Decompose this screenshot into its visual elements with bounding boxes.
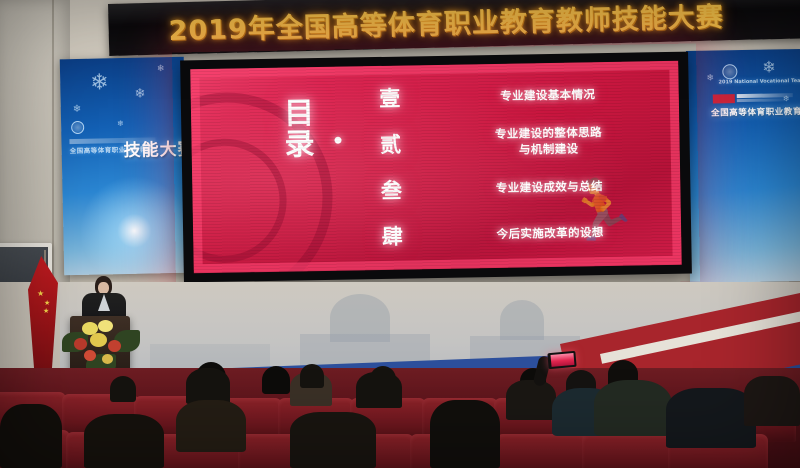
audience-person <box>430 400 500 468</box>
led-scanlines <box>190 61 681 273</box>
audience-person <box>262 366 290 394</box>
audience-person <box>356 372 402 408</box>
poster-logo-icon <box>71 121 84 134</box>
screenshot-root: 2019年全国高等体育职业教育教师技能大赛 ❄ ❄ ❄ ❄ ❄ 全国高等体育职业… <box>0 0 800 468</box>
right-poster-title: 全国高等体育职业教育教师技能大赛 <box>711 104 800 119</box>
wall-seam <box>52 0 54 300</box>
audience-person <box>0 404 62 468</box>
snowflake-icon: ❄ <box>134 88 145 101</box>
snowflake-icon: ❄ <box>73 105 82 115</box>
audience-person <box>110 376 136 402</box>
right-poster: ❄ ❄ ❄ 2019 National Vocational Teaching … <box>686 49 800 283</box>
smartphone-screen <box>550 353 574 367</box>
bouquet-flower <box>90 333 107 347</box>
audience-person <box>594 380 672 436</box>
bouquet-flower <box>84 350 96 361</box>
mural-dome <box>500 300 544 340</box>
audience-person <box>666 388 756 448</box>
bouquet-flower <box>98 320 113 332</box>
audience-person <box>176 400 246 452</box>
audience-person <box>744 376 800 426</box>
flag-star-icon: ★ <box>43 308 49 315</box>
bouquet-flower <box>102 354 113 364</box>
snowflake-icon: ❄ <box>117 120 124 128</box>
bouquet-flower <box>74 338 87 350</box>
right-poster-badge <box>713 94 735 103</box>
bouquet-flower <box>108 340 121 352</box>
poster-light-burst <box>78 175 188 276</box>
flag-star-icon: ★ <box>37 290 44 298</box>
poster-accent-bar <box>737 98 785 102</box>
snowflake-icon: ❄ <box>706 75 714 84</box>
presentation-slide: 🏃 目录 壹 贰 叁 肆 专业建设基本情况 专业建设的整体思路 与机制建设 专业… <box>190 61 681 273</box>
audience-person <box>300 364 324 388</box>
snowflake-icon: ❄ <box>762 59 776 75</box>
audience-person <box>186 368 230 404</box>
snowflake-icon: ❄ <box>157 65 165 74</box>
left-poster: ❄ ❄ ❄ ❄ ❄ 全国高等体育职业教育教师 技能大赛 <box>60 57 188 276</box>
poster-logo-icon <box>722 64 737 79</box>
smartphone <box>547 351 576 369</box>
audience-person <box>84 414 164 468</box>
audience-person <box>290 412 376 468</box>
led-screen-frame: 🏃 目录 壹 贰 叁 肆 专业建设基本情况 专业建设的整体思路 与机制建设 专业… <box>180 52 692 283</box>
audience-person <box>506 380 556 420</box>
seat <box>582 434 672 468</box>
snowflake-icon: ❄ <box>90 72 109 94</box>
left-poster-title: 技能大赛 <box>123 134 188 161</box>
seat <box>496 434 586 468</box>
flag-star-icon: ★ <box>44 300 50 307</box>
